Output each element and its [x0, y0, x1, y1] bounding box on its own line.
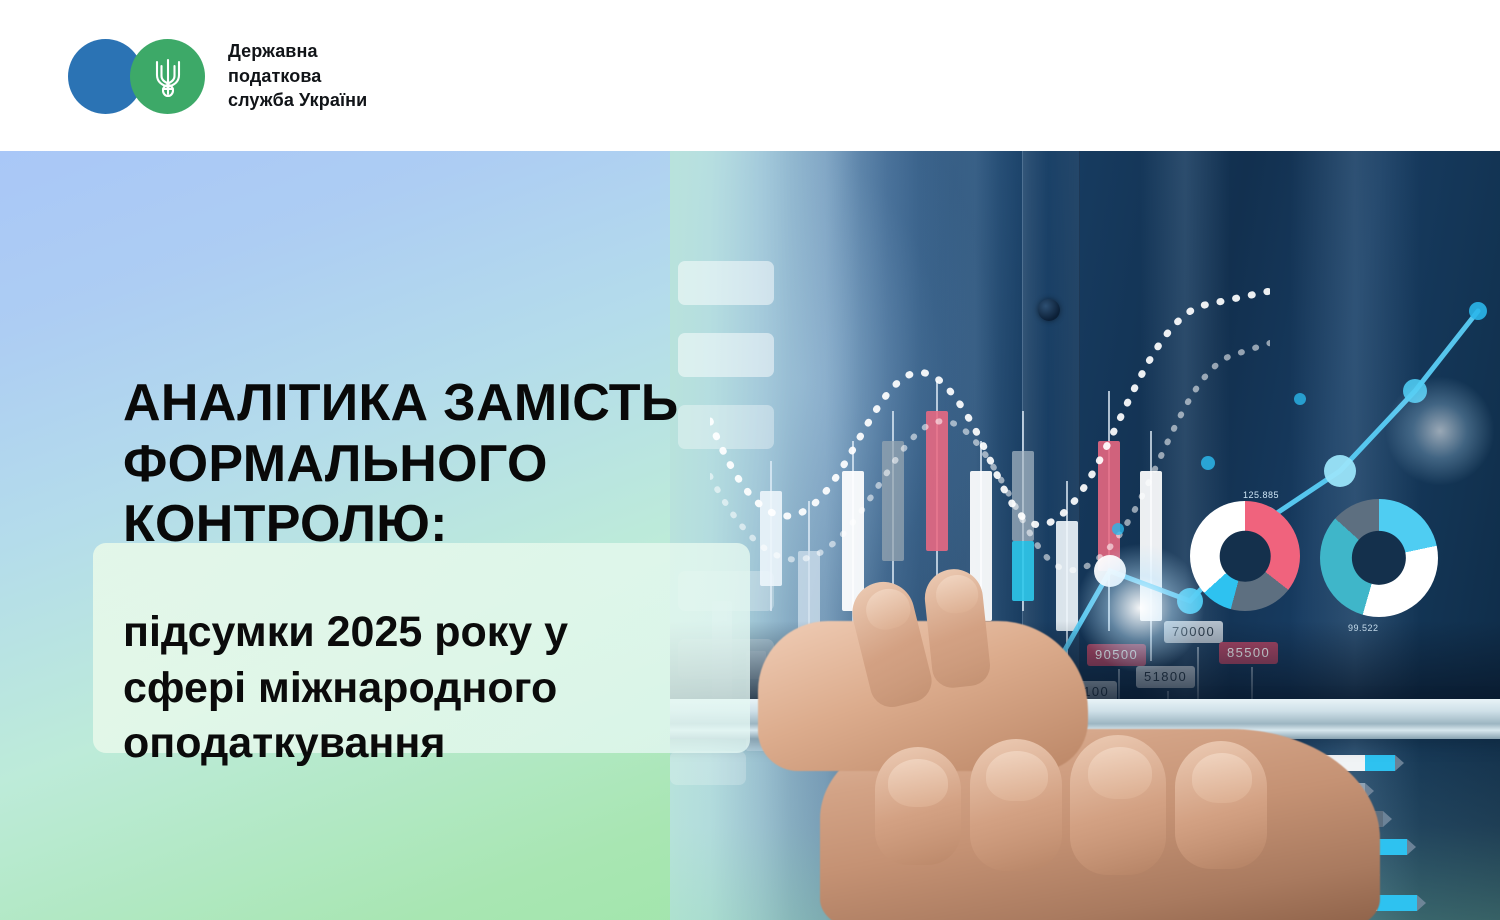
fingernail	[888, 759, 948, 807]
organization-logo[interactable]: Державна податкова служба України	[68, 36, 367, 116]
fingernail	[1088, 747, 1152, 799]
donut-label-left: 125.885	[1243, 490, 1279, 500]
tryzub-icon	[151, 55, 185, 99]
donut-chart-right	[1320, 499, 1438, 617]
page-title: АНАЛІТИКА ЗАМІСТЬ ФОРМАЛЬНОГО КОНТРОЛЮ:	[123, 373, 863, 555]
logo-green-circle-icon	[130, 39, 205, 114]
page-subtitle: підсумки 2025 року у сфері міжнародного …	[123, 605, 763, 773]
logo-marks	[68, 36, 216, 116]
logo-organization-name: Державна податкова служба України	[228, 39, 367, 113]
page-header: Державна податкова служба України	[0, 0, 1500, 151]
donut-chart-left	[1190, 501, 1300, 611]
poster-banner: Державна податкова служба України	[0, 0, 1500, 920]
hero-banner: 125.885 99.522 20100 90500 51800 70000 8…	[0, 151, 1500, 920]
fingernail	[986, 751, 1048, 801]
fingernail	[1192, 753, 1252, 803]
